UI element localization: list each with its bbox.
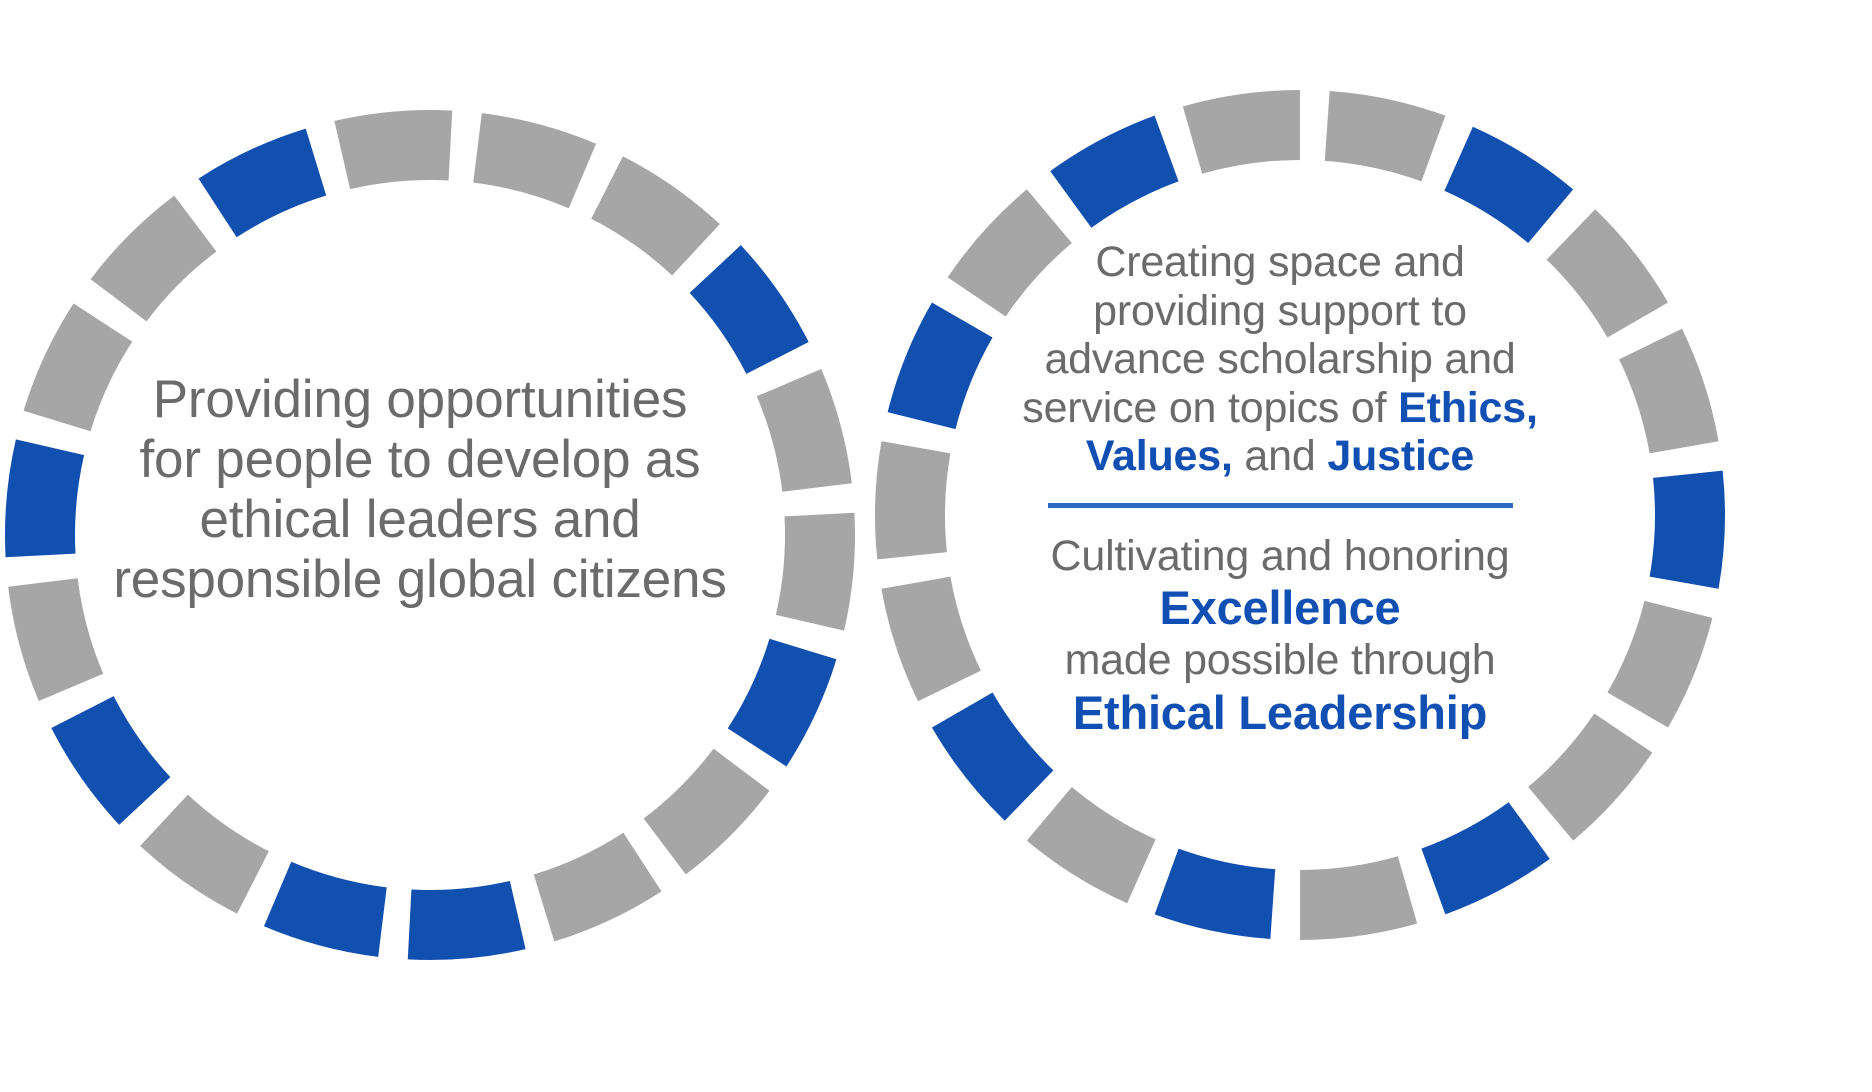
- ring-segment-gray: [644, 749, 770, 875]
- accent-excellence: Excellence: [1000, 580, 1560, 635]
- ring-segment-gray: [1325, 91, 1446, 181]
- right-upper-line-2: providing support to: [1000, 287, 1560, 336]
- ring-segment-blue: [690, 245, 809, 374]
- ring-segment-gray: [140, 795, 269, 914]
- ring-segment-gray: [591, 156, 720, 275]
- ring-segment-blue: [728, 639, 837, 767]
- ring-segment-gray: [1619, 329, 1718, 454]
- ring-segment-gray: [1027, 787, 1156, 903]
- ring-segment-blue: [1444, 127, 1573, 243]
- accent-justice: Justice: [1327, 432, 1474, 480]
- ring-segment-blue: [1650, 471, 1725, 589]
- right-upper-line-5: Values, and Justice: [1000, 432, 1560, 481]
- ring-segment-blue: [888, 303, 993, 430]
- section-divider: [1048, 503, 1513, 508]
- right-mission-text: Creating space and providing support to …: [1000, 238, 1560, 740]
- right-upper-block: Creating space and providing support to …: [1000, 238, 1560, 481]
- ring-segment-gray: [875, 441, 950, 559]
- right-upper-line-3: advance scholarship and: [1000, 335, 1560, 384]
- ring-segment-blue: [51, 696, 170, 825]
- ring-segment-gray: [881, 577, 980, 702]
- ring-segment-gray: [1183, 90, 1300, 174]
- right-upper-line-1: Creating space and: [1000, 238, 1560, 287]
- ring-segment-gray: [1300, 856, 1417, 940]
- right-upper-line-4: service on topics of Ethics,: [1000, 384, 1560, 433]
- ring-segment-gray: [776, 513, 855, 631]
- ring-segment-gray: [1607, 601, 1712, 728]
- ring-segment-blue: [1155, 849, 1276, 939]
- left-line-4: responsible global citizens: [60, 550, 780, 610]
- right-lower-block: Cultivating and honoring Excellence made…: [1000, 532, 1560, 740]
- left-line-3: ethical leaders and: [60, 490, 780, 550]
- left-line-2: for people to develop as: [60, 430, 780, 490]
- right-lower-line-1: Cultivating and honoring: [1000, 532, 1560, 581]
- accent-ethical-leadership: Ethical Leadership: [1000, 685, 1560, 740]
- left-mission-text: Providing opportunities for people to de…: [60, 370, 780, 610]
- right-lower-line-3: made possible through: [1000, 636, 1560, 685]
- ring-segment-blue: [1050, 116, 1178, 228]
- ring-segment-gray: [1547, 209, 1668, 337]
- ring-segment-gray: [334, 110, 452, 189]
- ring-segment-gray: [473, 113, 596, 208]
- right-upper-line-4-prefix: service on topics of: [1022, 384, 1398, 432]
- accent-values: Values,: [1086, 432, 1233, 480]
- infographic-canvas: Providing opportunities for people to de…: [0, 0, 1872, 1092]
- right-upper-line-5-conjunction: and: [1233, 432, 1328, 480]
- ring-segment-blue: [1421, 802, 1549, 914]
- ring-segment-blue: [264, 862, 387, 957]
- accent-ethics: Ethics,: [1398, 384, 1538, 432]
- ring-segment-gray: [534, 833, 662, 942]
- ring-segment-blue: [199, 129, 327, 238]
- ring-segment-blue: [408, 881, 526, 960]
- ring-segment-gray: [91, 196, 217, 322]
- left-line-1: Providing opportunities: [60, 370, 780, 430]
